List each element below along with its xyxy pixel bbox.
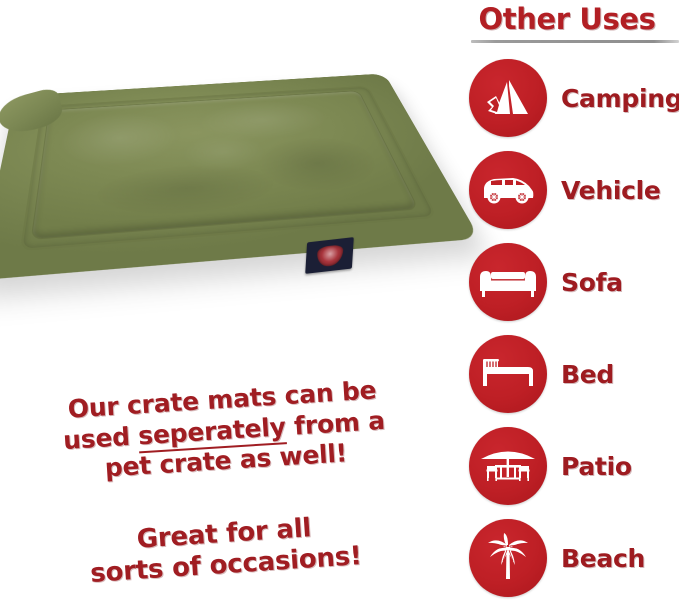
- sofa-icon: [469, 243, 547, 321]
- slogan-primary: Our crate mats can be used seperately fr…: [32, 373, 417, 488]
- use-row-sofa: Sofa: [455, 236, 679, 328]
- other-uses-panel: Other Uses Camping: [455, 0, 679, 593]
- mat-outer-rim: [0, 73, 480, 280]
- pet-crate-mat: [0, 48, 445, 296]
- other-uses-title: Other Uses: [455, 2, 679, 36]
- slogan-primary-line-2-before: used: [62, 421, 139, 455]
- car-icon: [469, 151, 547, 229]
- use-label-bed: Bed: [561, 360, 614, 389]
- use-row-vehicle: Vehicle: [455, 144, 679, 236]
- tent-icon: [469, 59, 547, 137]
- use-row-patio: Patio: [455, 420, 679, 512]
- use-row-bed: Bed: [455, 328, 679, 420]
- use-label-camping: Camping: [561, 84, 679, 113]
- slogan-primary-line-2-after: from a: [285, 405, 386, 440]
- use-label-patio: Patio: [561, 452, 632, 481]
- slogan-secondary: Great for all sorts of occasions!: [58, 508, 391, 592]
- use-row-beach: Beach: [455, 512, 679, 604]
- palm-tree-icon: [469, 519, 547, 597]
- use-label-beach: Beach: [561, 544, 645, 573]
- bed-icon: [469, 335, 547, 413]
- use-row-camping: Camping: [455, 52, 679, 144]
- title-divider: [471, 40, 679, 43]
- use-label-vehicle: Vehicle: [561, 176, 661, 205]
- brand-crest-icon: [316, 244, 343, 267]
- product-photo: [0, 48, 445, 296]
- other-uses-list: Camping: [455, 52, 679, 604]
- product-marketing-image: Our crate mats can be used seperately fr…: [0, 0, 679, 593]
- patio-umbrella-icon: [469, 427, 547, 505]
- brand-tag: [305, 237, 354, 274]
- use-label-sofa: Sofa: [561, 268, 623, 297]
